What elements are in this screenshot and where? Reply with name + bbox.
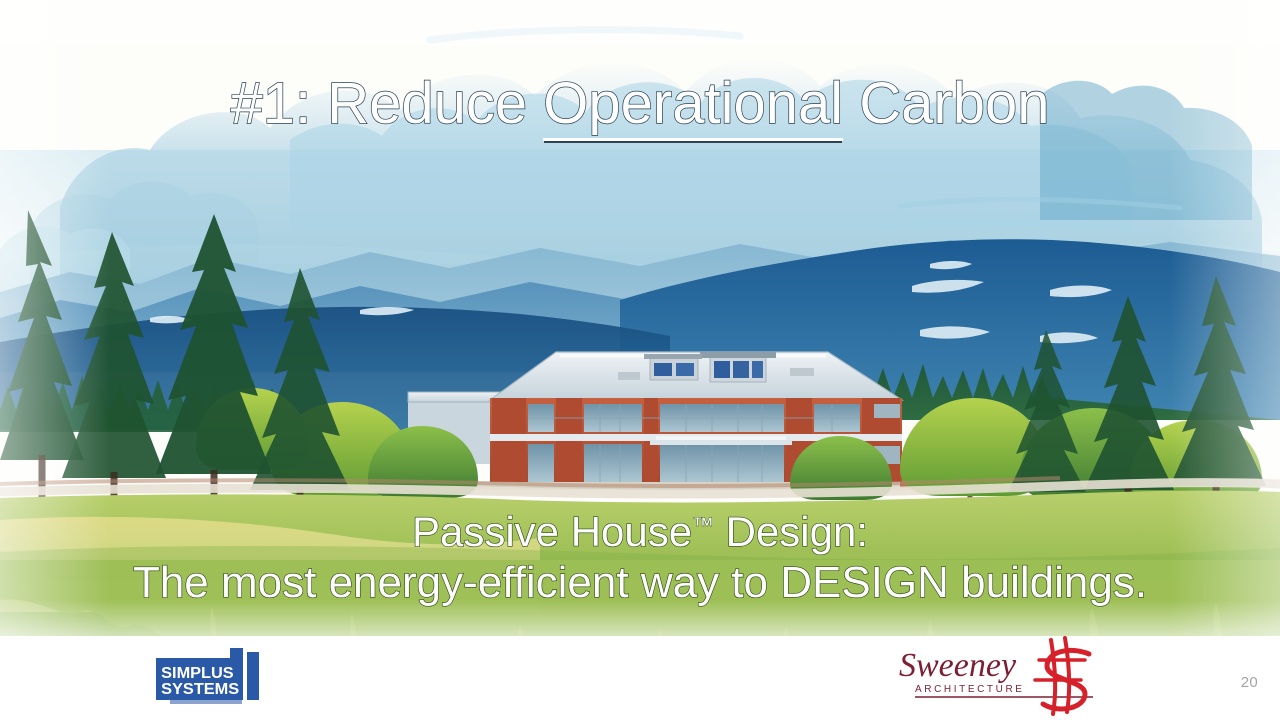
sweeney-monogram-icon bbox=[1035, 638, 1089, 714]
slide: #1: Reduce Operational Carbon Passive Ho… bbox=[0, 0, 1280, 720]
watercolor-illustration bbox=[0, 0, 1280, 720]
sweeney-tagline: ARCHITECTURE bbox=[915, 684, 1025, 695]
sweeney-wordmark: Sweeney bbox=[899, 647, 1017, 684]
page-number: 20 bbox=[1241, 674, 1258, 691]
sweeney-architecture-logo: Sweeney ARCHITECTURE bbox=[893, 636, 1135, 720]
simplus-logo-line2: SYSTEMS bbox=[161, 680, 239, 698]
simplus-systems-logo: SIMPLUS SYSTEMS bbox=[152, 648, 264, 706]
